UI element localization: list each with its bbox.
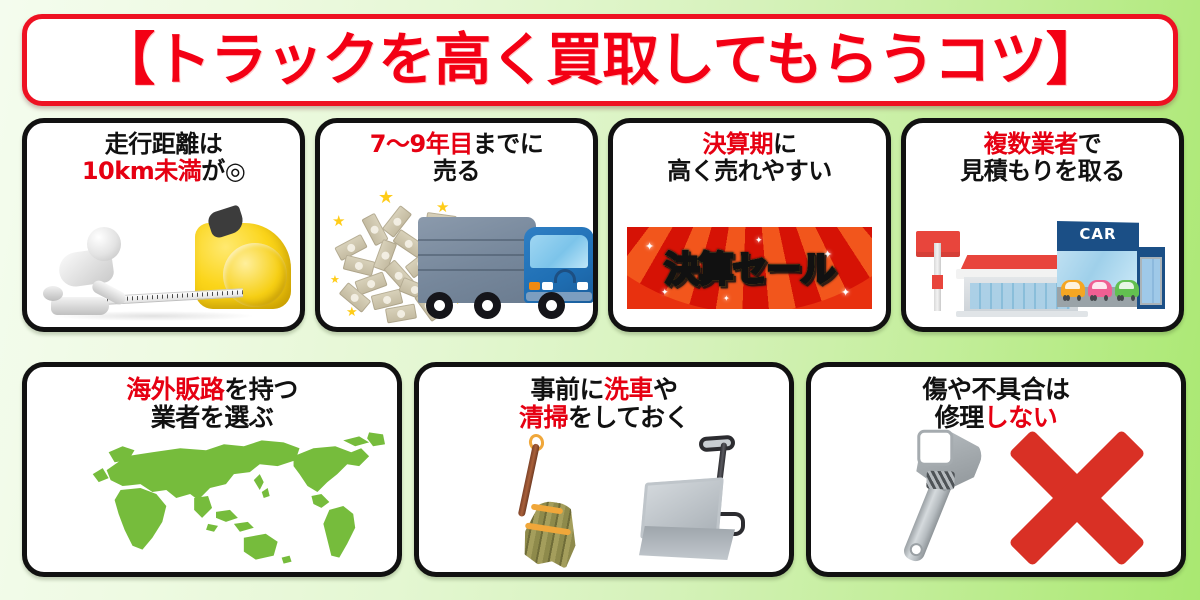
card-no-repair-title: 傷や不具合は 修理しない: [811, 376, 1181, 433]
broom-icon: [499, 434, 595, 566]
text-run: 修理: [935, 403, 984, 432]
card-pre-cleaning-title: 事前に洗車や 清掃をしておく: [419, 376, 789, 433]
text-run-highlight: 清掃: [519, 403, 568, 432]
text-run-highlight: 複数業者: [984, 130, 1078, 158]
wrench-cross-icon: [811, 432, 1181, 572]
text-run: までに: [473, 130, 544, 158]
card-mileage-title: 走行距離は 10km未満が◎: [27, 131, 300, 185]
tape-measure-icon: [27, 187, 300, 327]
text-run: が◎: [201, 157, 245, 185]
text-run: 売る: [433, 157, 480, 185]
text-run-highlight: 10km未満: [82, 157, 201, 185]
text-run: 事前に: [530, 375, 604, 404]
text-run-highlight: 決算期: [703, 130, 774, 158]
wrench-icon: [858, 414, 1020, 577]
text-run-highlight: しない: [984, 403, 1058, 432]
car-shop-icon: CAR: [1057, 221, 1165, 313]
text-run: 業者を選ぶ: [151, 403, 274, 432]
cards-row-top: 走行距離は 10km未満が◎ 7〜9年目までに 売る: [22, 118, 1184, 332]
text-run: 高く売れやすい: [667, 157, 832, 185]
truck-money-icon: ★ ★ ★ ★ ★ ★ ★: [320, 187, 593, 327]
world-map-icon: [27, 432, 397, 572]
text-run-highlight: 海外販路: [126, 375, 224, 404]
text-run-highlight: 洗車: [604, 375, 653, 404]
card-mileage: 走行距離は 10km未満が◎: [22, 118, 305, 332]
card-fiscal-period-title: 決算期に 高く売れやすい: [613, 131, 886, 185]
card-sell-year-title: 7〜9年目までに 売る: [320, 131, 593, 185]
text-run: 傷や不具合は: [922, 375, 1069, 404]
card-pre-cleaning: 事前に洗車や 清掃をしておく: [414, 362, 794, 577]
card-overseas-channel-title: 海外販路を持つ 業者を選ぶ: [27, 376, 397, 433]
text-run: 走行距離は: [105, 130, 223, 158]
sale-banner-text: 決算セール: [627, 241, 872, 292]
text-run: に: [773, 130, 797, 158]
title-banner: 【トラックを高く買取してもらうコツ】: [22, 14, 1178, 106]
card-sell-year: 7〜9年目までに 売る: [315, 118, 598, 332]
text-run: をしておく: [568, 403, 689, 432]
red-cross-icon: [1001, 432, 1153, 564]
card-no-repair: 傷や不具合は 修理しない: [806, 362, 1186, 577]
dealership-icon: CAR: [906, 187, 1179, 327]
broom-dustpan-icon: [419, 432, 789, 572]
text-run: や: [653, 375, 678, 404]
card-overseas-channel: 海外販路を持つ 業者を選ぶ: [22, 362, 402, 577]
card-fiscal-period: 決算期に 高く売れやすい ✦ ✦ ✦ ✦ ✦ ✦ 決算セール: [608, 118, 891, 332]
text-run: 見積もりを取る: [960, 157, 1125, 185]
sale-banner-icon: ✦ ✦ ✦ ✦ ✦ ✦ 決算セール: [613, 187, 886, 327]
cards-row-bottom: 海外販路を持つ 業者を選ぶ: [22, 362, 1186, 577]
card-multiple-quotes: 複数業者で 見積もりを取る CAR: [901, 118, 1184, 332]
text-run: で: [1078, 130, 1102, 158]
page-title: 【トラックを高く買取してもらうコツ】: [98, 32, 1101, 89]
dustpan-icon: [637, 436, 757, 564]
car-shop-sign-label: CAR: [1057, 225, 1139, 243]
text-run-highlight: 7〜9年目: [370, 130, 473, 158]
card-multiple-quotes-title: 複数業者で 見積もりを取る: [906, 131, 1179, 185]
text-run: を持つ: [224, 375, 298, 404]
